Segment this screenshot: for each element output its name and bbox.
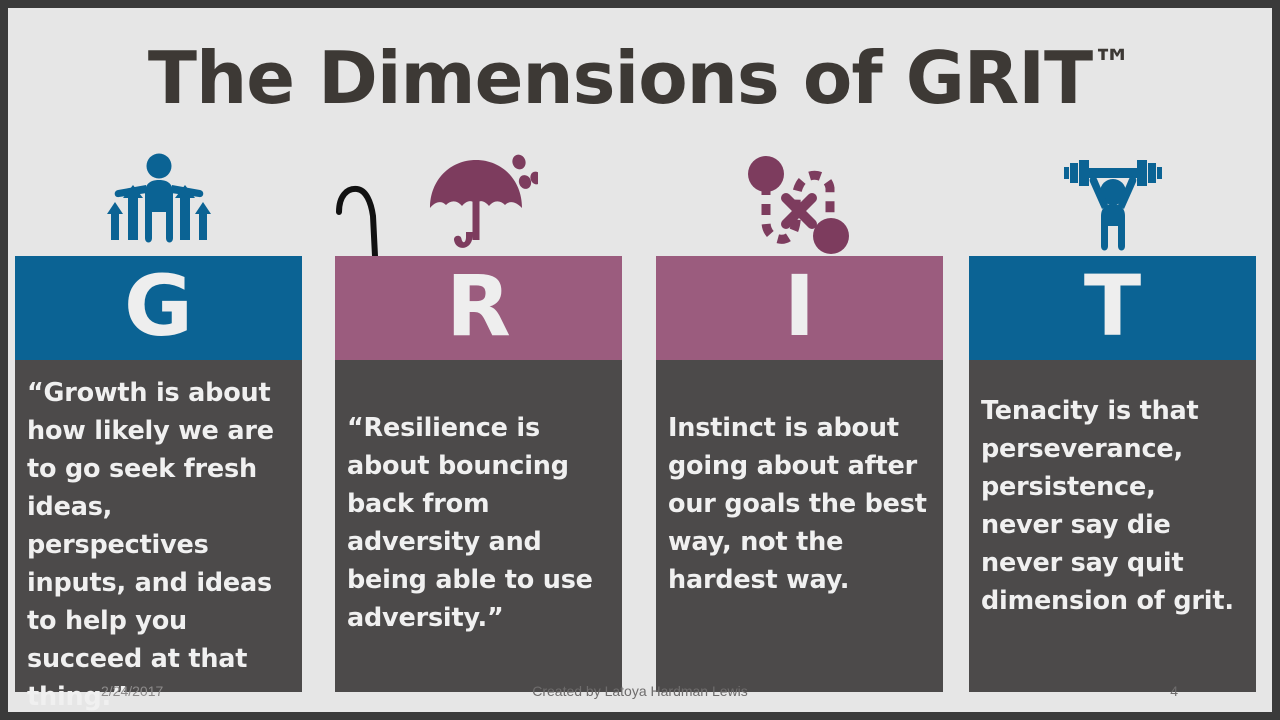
letter-bar-i: I — [656, 256, 943, 360]
letter-bar-r: R — [335, 256, 622, 360]
quote-text-instinct: Instinct is about going about after our … — [668, 374, 931, 599]
quote-text-tenacity: Tenacity is that perseverance, persisten… — [981, 374, 1244, 620]
trademark-symbol: ™ — [1092, 42, 1132, 88]
dimension-column-tenacity: T Tenacity is that perseverance, persist… — [969, 256, 1256, 692]
icon-slot-instinct — [656, 146, 943, 256]
dimension-column-growth: G “Growth is about how likely we are to … — [15, 256, 302, 692]
person-arrows-growth-icon — [105, 152, 213, 256]
dimension-columns: G “Growth is about how likely we are to … — [15, 256, 1265, 692]
dimension-column-resilience: R “Resilience is about bouncing back fro… — [335, 256, 622, 692]
footer-credit: Created by Latoya Hardman Lewis — [8, 683, 1272, 699]
route-path-marker-icon — [746, 152, 854, 256]
quote-panel-instinct: Instinct is about going about after our … — [656, 360, 943, 692]
weightlifter-barbell-icon — [1057, 152, 1169, 256]
letter-bar-g: G — [15, 256, 302, 360]
umbrella-rain-icon — [420, 152, 538, 256]
icon-slot-resilience — [335, 146, 622, 256]
quote-panel-resilience: “Resilience is about bouncing back from … — [335, 360, 622, 692]
dimension-column-instinct: I Instinct is about going about after ou… — [656, 256, 943, 692]
page-title-text: The Dimensions of GRIT — [148, 36, 1092, 120]
quote-text-resilience: “Resilience is about bouncing back from … — [347, 374, 610, 637]
quote-panel-growth: “Growth is about how likely we are to go… — [15, 360, 302, 692]
footer-page-number: 4 — [1170, 683, 1178, 699]
slide-canvas: The Dimensions of GRIT™ — [8, 8, 1272, 712]
letter-t: T — [1084, 264, 1141, 348]
quote-panel-tenacity: Tenacity is that perseverance, persisten… — [969, 360, 1256, 692]
letter-i: I — [784, 264, 815, 348]
icon-slot-growth — [15, 146, 302, 256]
letter-g: G — [124, 264, 193, 348]
quote-text-growth: “Growth is about how likely we are to go… — [27, 374, 290, 712]
icon-slot-tenacity — [969, 146, 1256, 256]
letter-r: R — [446, 264, 511, 348]
letter-bar-t: T — [969, 256, 1256, 360]
page-title: The Dimensions of GRIT™ — [8, 22, 1272, 121]
slide-frame: The Dimensions of GRIT™ — [0, 0, 1280, 720]
